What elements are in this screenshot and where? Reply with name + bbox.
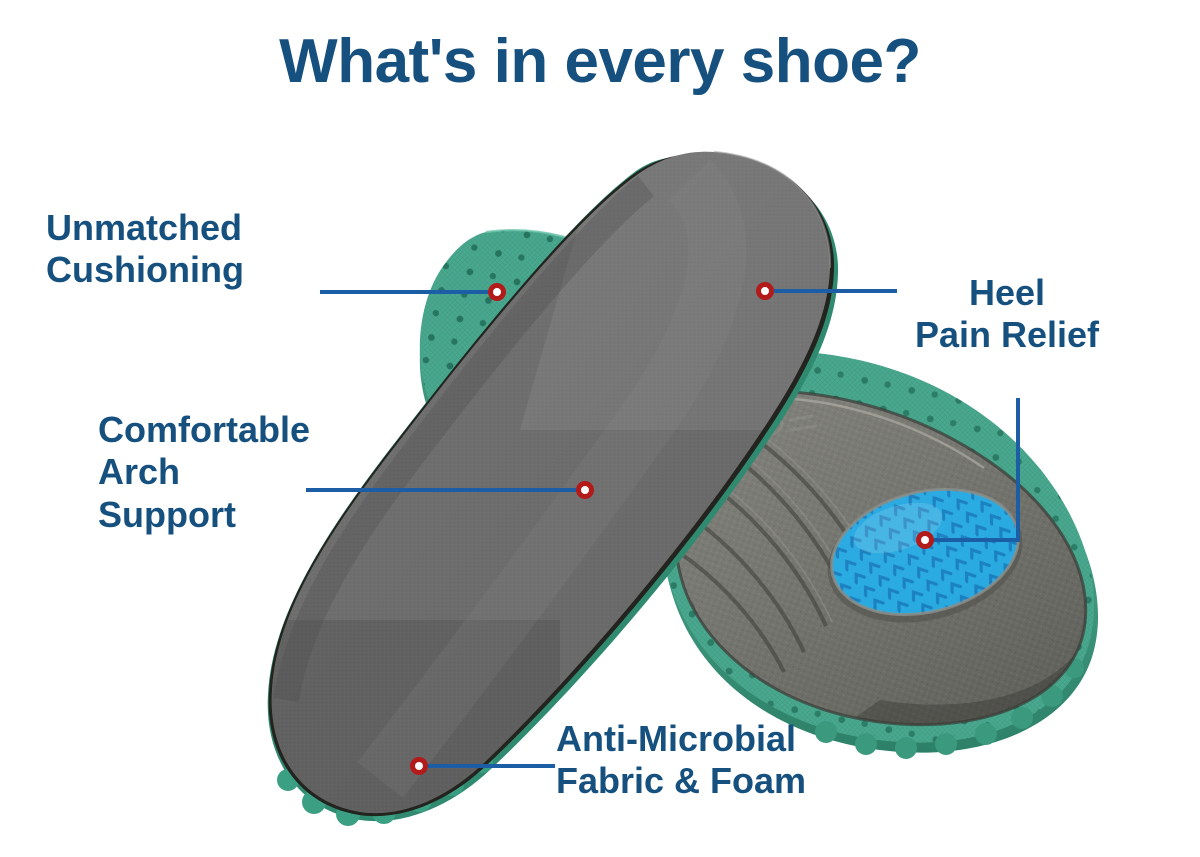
callout-label-anti-microbial-fabric-foam: Anti-Microbial Fabric & Foam xyxy=(556,718,806,803)
callout-label-line: Arch xyxy=(98,451,310,493)
callout-label-line: Support xyxy=(98,494,310,536)
callout-label-heel-pain-relief: Heel Pain Relief xyxy=(882,272,1132,357)
callout-label-unmatched-cushioning: Unmatched Cushioning xyxy=(46,207,244,292)
callout-label-line: Anti-Microbial xyxy=(556,718,806,760)
callout-label-line: Unmatched xyxy=(46,207,244,249)
callout-label-line: Pain Relief xyxy=(882,314,1132,356)
callout-label-line: Comfortable xyxy=(98,409,310,451)
page-title: What's in every shoe? xyxy=(0,26,1200,97)
callout-label-line: Fabric & Foam xyxy=(556,760,806,802)
callout-label-comfortable-arch-support: Comfortable Arch Support xyxy=(98,409,310,536)
callout-label-line: Cushioning xyxy=(46,249,244,291)
callout-label-line: Heel xyxy=(882,272,1132,314)
infographic-canvas: What's in every shoe? Unmatched Cushioni… xyxy=(0,0,1200,857)
